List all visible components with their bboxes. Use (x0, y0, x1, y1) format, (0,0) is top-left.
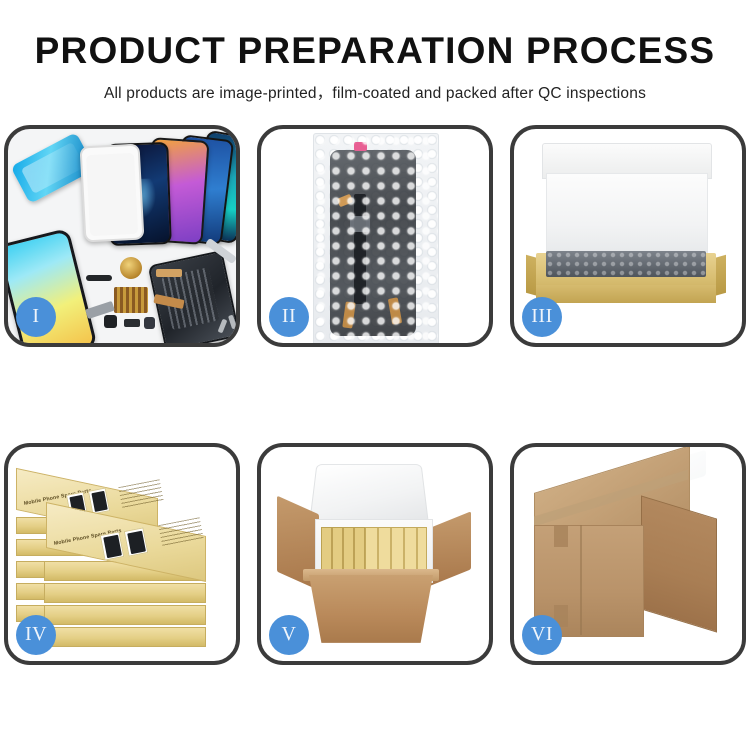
step-panel-2: II (257, 125, 493, 347)
step-badge-1: I (16, 297, 56, 337)
stacked-box-image (44, 627, 206, 647)
foam-padding-image (546, 173, 708, 259)
carton-tape-patch-image (554, 525, 568, 547)
carton-seam-image (580, 525, 582, 635)
bubble-wrap-bag-image (313, 133, 439, 347)
header: PRODUCT PREPARATION PROCESS All products… (0, 0, 750, 103)
gold-connector-part-image (156, 269, 182, 277)
small-module-part-image (144, 317, 155, 329)
carton-body-image (309, 575, 433, 643)
stacked-box-image (44, 605, 206, 625)
screen-connector-image (350, 216, 370, 232)
page-subtitle: All products are image-printed，film-coat… (0, 81, 750, 103)
step-badge-4: IV (16, 615, 56, 655)
camera-module-part-image (104, 315, 117, 328)
carton-side-face-image (641, 495, 717, 632)
page-title: PRODUCT PREPARATION PROCESS (0, 32, 750, 71)
gold-coil-part-image (120, 257, 142, 279)
foam-lid-image (309, 464, 429, 524)
step-badge-3: III (522, 297, 562, 337)
step-panel-1: I (4, 125, 240, 347)
button-part-image (124, 319, 140, 327)
chip-grid-part-image (114, 287, 148, 313)
step-panel-5: V (257, 443, 493, 665)
white-frame-glass-image (80, 143, 145, 242)
infographic-page: PRODUCT PREPARATION PROCESS All products… (0, 0, 750, 750)
bubble-wrapped-contents-image (546, 251, 706, 277)
screen-flex-cable-image (354, 194, 366, 304)
step-badge-6: VI (522, 615, 562, 655)
step-panel-3: III (510, 125, 746, 347)
pink-label-sticker-image (354, 142, 367, 151)
stacked-box-image (44, 583, 206, 603)
box-front-wall-image (536, 285, 716, 303)
speaker-part-image (86, 275, 112, 281)
step-badge-5: V (269, 615, 309, 655)
step-panel-6: VI (510, 443, 746, 665)
golden-boxes-in-carton-image (365, 527, 427, 571)
step-badge-2: II (269, 297, 309, 337)
step-panel-4: Mobile Phone Spare Parts Mobile Phone Sp… (4, 443, 240, 665)
process-steps-grid: I II (4, 125, 746, 665)
wrapped-screen-image (330, 150, 416, 336)
